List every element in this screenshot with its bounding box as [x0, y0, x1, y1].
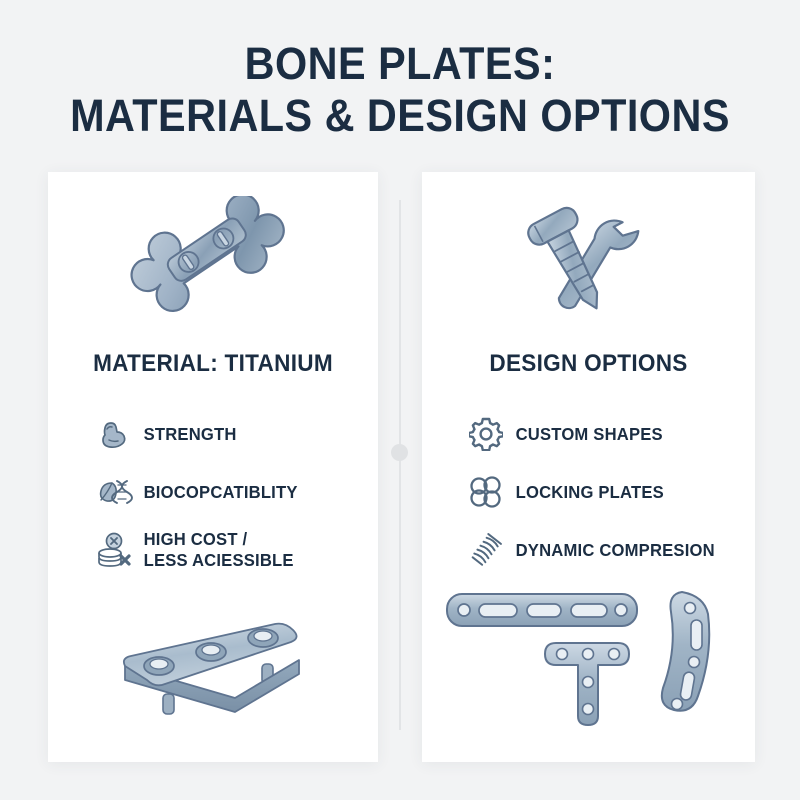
feature-locking-plates-label: LOCKING PLATES: [508, 482, 664, 503]
title-line-2: MATERIALS & DESIGN OPTIONS: [32, 90, 768, 142]
bone-with-plate-illustration: [48, 196, 378, 336]
coins-cross-icon: [92, 528, 136, 572]
feature-biocompatibility: BIOCOPCATIBLITY: [92, 466, 378, 518]
leaf-dna-icon: [92, 470, 136, 514]
panel-left-feature-list: STRENGTH BIOCOPCATIBLITY: [48, 408, 378, 582]
feature-strength-label: STRENGTH: [136, 424, 237, 445]
page-title: BONE PLATES: MATERIALS & DESIGN OPTIONS: [0, 38, 800, 142]
feature-locking-plates: LOCKING PLATES: [464, 466, 755, 518]
panel-left-heading: MATERIAL: TITANIUM: [58, 350, 368, 378]
gear-icon: [464, 412, 508, 456]
feature-custom-shapes: CUSTOM SHAPES: [464, 408, 755, 460]
feature-dynamic-compression: DYNAMIC COMPRESION: [464, 524, 755, 576]
interlocking-rings-icon: [464, 470, 508, 514]
screw-and-wrench-illustration: [422, 196, 755, 336]
panel-divider-line: [399, 200, 401, 730]
feature-high-cost-label: HIGH COST / LESS ACIESSIBLE: [136, 529, 294, 571]
feature-strength: STRENGTH: [92, 408, 378, 460]
panel-design-options: DESIGN OPTIONS CUSTOM SHAPES: [422, 172, 755, 762]
feature-biocompatibility-label: BIOCOPCATIBLITY: [136, 482, 298, 503]
feature-high-cost: HIGH COST / LESS ACIESSIBLE: [92, 524, 378, 576]
design-plate-figures: [422, 578, 755, 728]
flexed-bicep-icon: [92, 412, 136, 456]
panel-right-heading: DESIGN OPTIONS: [432, 350, 745, 378]
isometric-three-hole-plate-with-screws: [48, 608, 378, 728]
feature-custom-shapes-label: CUSTOM SHAPES: [508, 424, 663, 445]
straight-slotted-plate: [447, 594, 637, 626]
title-line-1: BONE PLATES:: [32, 38, 768, 90]
feature-dynamic-compression-label: DYNAMIC COMPRESION: [508, 540, 715, 561]
coil-spring-icon: [464, 528, 508, 572]
t-shaped-plate: [545, 643, 629, 725]
curved-slotted-plate: [661, 592, 708, 711]
panel-right-feature-list: CUSTOM SHAPES LOCKING PLATES: [422, 408, 755, 582]
panel-material-titanium: MATERIAL: TITANIUM STRENGTH: [48, 172, 378, 762]
panel-divider-dot: [391, 444, 408, 461]
